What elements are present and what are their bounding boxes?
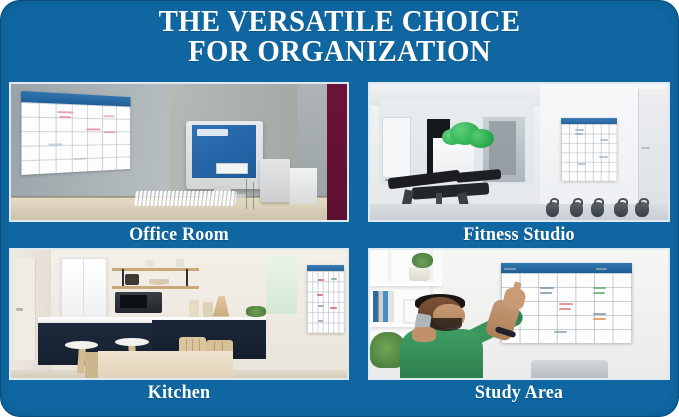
shelf-bracket (186, 269, 188, 286)
calendar-note (48, 143, 62, 145)
office-screen-logo (197, 129, 227, 136)
calendar-note (599, 156, 607, 158)
office-cable (253, 182, 254, 209)
kitchen-stool (115, 338, 149, 346)
calendar-note (554, 331, 567, 333)
panel-fitness-studio: Fitness Studio (368, 82, 670, 248)
fitness-door-left (382, 117, 411, 179)
calendar-note (596, 268, 608, 270)
calendar-note (578, 163, 586, 165)
office-sticky-note (216, 163, 248, 175)
panel-kitchen: Kitchen (9, 248, 349, 408)
kettlebell (614, 202, 627, 217)
kitchen-vase (145, 260, 155, 266)
kitchen-jar (125, 274, 138, 284)
calendar-note (593, 318, 606, 320)
calendar-note (504, 268, 516, 270)
caption-kitchen: Kitchen (18, 380, 341, 406)
kitchen-window (266, 255, 296, 319)
office-keyboard (134, 191, 237, 206)
calendar-note (330, 307, 336, 309)
office-computer-tower (260, 159, 290, 203)
calendar-note (103, 131, 115, 133)
office-cable-bundle (290, 168, 317, 203)
shelf-bracket (122, 269, 124, 286)
calendar-note (600, 139, 608, 141)
refrigerator-divider (83, 258, 84, 317)
calendar-note (317, 294, 323, 296)
calendar-note (58, 110, 74, 112)
kettlebell (546, 202, 559, 217)
kitchen-plant (246, 306, 266, 316)
kitchen-window-sill (266, 314, 303, 319)
photo-kitchen (9, 248, 349, 380)
calendar-note (331, 278, 337, 280)
calendar-note (87, 128, 101, 130)
product-infographic-poster: THE VERSATILE CHOICE FOR ORGANIZATION (0, 0, 679, 417)
kitchen-stool (65, 341, 99, 349)
person-hand-holding-phone (412, 327, 436, 342)
exercise-ball (468, 129, 493, 148)
plant-pot (409, 267, 430, 281)
panel-office-room: Office Room (9, 82, 349, 248)
office-cable (246, 179, 247, 209)
kitchen-bowl (149, 279, 169, 284)
photo-office-room (9, 82, 349, 222)
calendar-grid (307, 271, 344, 333)
microwave-door (120, 295, 147, 308)
wall-calendar-kitchen (307, 265, 344, 333)
photo-study-area (368, 248, 670, 380)
calendar-note (575, 133, 582, 135)
calendar-note (59, 116, 72, 118)
kitchen-shelf (112, 286, 199, 289)
calendar-note (318, 279, 325, 281)
calendar-note (103, 115, 114, 117)
calendar-note (540, 287, 553, 289)
panel-study-area: Study Area (368, 248, 670, 408)
calendar-note (559, 308, 571, 310)
study-plant (412, 253, 433, 268)
calendar-note (540, 292, 552, 294)
shelf-upright (388, 250, 391, 282)
kitchen-container (189, 300, 199, 317)
fitness-door-right (638, 89, 669, 214)
kettlebell (570, 202, 583, 217)
calendar-note (318, 320, 324, 322)
calendar-note (559, 303, 573, 305)
calendar-note (593, 287, 606, 289)
dining-table (98, 351, 232, 378)
door-handle (641, 147, 650, 150)
calendar-note (593, 292, 605, 294)
caption-study-area: Study Area (376, 380, 663, 406)
study-books (373, 291, 394, 322)
calendar-note (74, 158, 87, 160)
fitness-machine-frame (489, 121, 516, 175)
wall-calendar-fitness (561, 118, 618, 181)
kettlebell (635, 202, 648, 217)
wall-calendar-office (21, 91, 131, 175)
study-laptop (531, 360, 608, 378)
calendar-grid (561, 124, 618, 181)
calendar-note (575, 129, 584, 131)
photo-fitness-studio (368, 82, 670, 222)
calendar-note (318, 305, 324, 307)
kettlebell (591, 202, 604, 217)
page-title: THE VERSATILE CHOICE FOR ORGANIZATION (24, 6, 655, 66)
office-purple-partition (327, 84, 347, 220)
panel-grid: Office Room (9, 82, 670, 408)
calendar-grid (21, 102, 131, 175)
calendar-note (593, 313, 606, 315)
kitchen-refrigerator (61, 258, 107, 319)
door-handle (16, 308, 23, 312)
kitchen-vase (176, 259, 184, 267)
kitchen-container (203, 302, 213, 316)
calendar-header-bar (501, 263, 632, 273)
caption-fitness-studio: Fitness Studio (376, 222, 663, 248)
headline-line-2: FOR ORGANIZATION (24, 36, 655, 66)
caption-office-room: Office Room (18, 222, 341, 248)
shelf-board (370, 282, 442, 286)
